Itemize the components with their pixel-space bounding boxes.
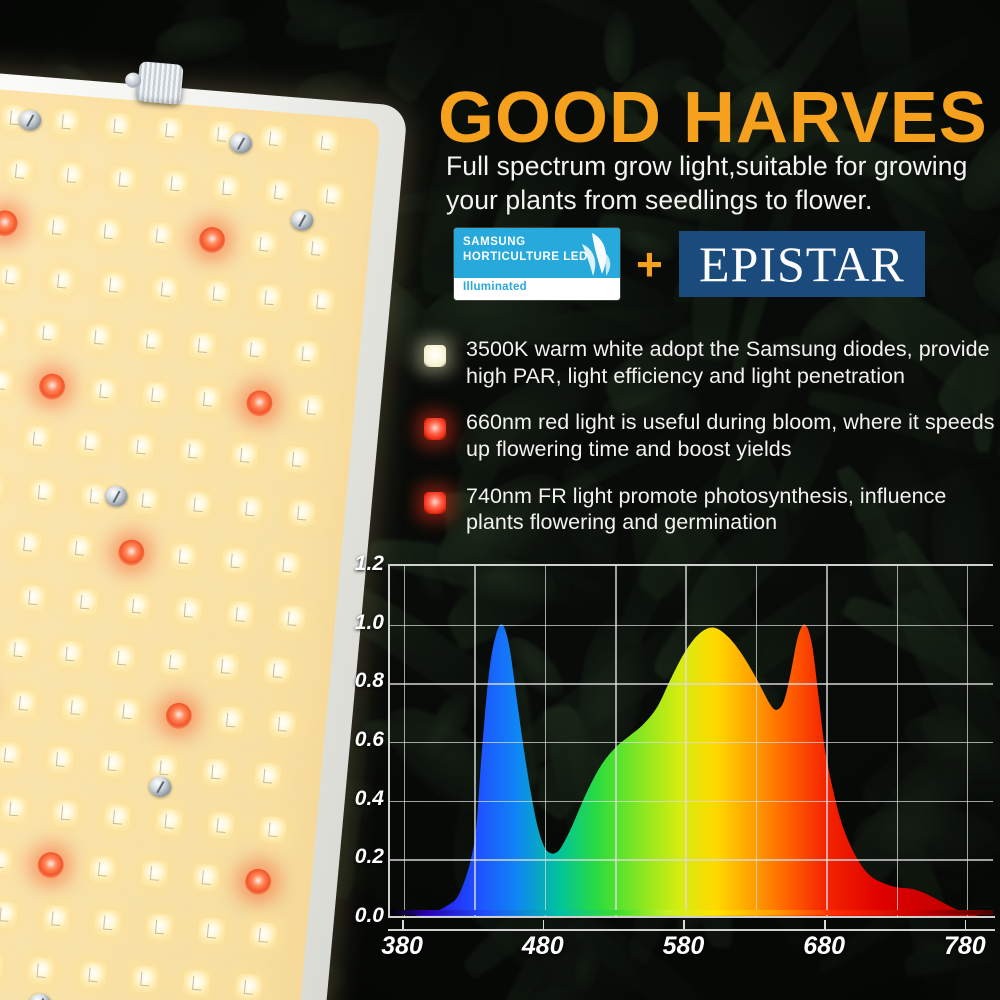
- white-led: [94, 909, 122, 937]
- gridline-vertical: [685, 566, 686, 916]
- red-led-marker-icon: [424, 492, 446, 514]
- white-led: [131, 965, 159, 993]
- white-led: [249, 921, 277, 949]
- x-axis-tickmark: [543, 920, 545, 929]
- y-axis-tick: 0.4: [355, 787, 384, 811]
- feature-text: 3500K warm white adopt the Samsung diode…: [466, 336, 1000, 389]
- white-led: [27, 957, 55, 985]
- white-led: [0, 263, 24, 291]
- white-led: [179, 437, 207, 465]
- red-led: [37, 851, 65, 879]
- white-led: [132, 487, 160, 515]
- white-led: [307, 288, 335, 316]
- white-led: [297, 394, 325, 422]
- white-led: [104, 112, 132, 140]
- red-led: [165, 702, 193, 730]
- feature-list: 3500K warm white adopt the Samsung diode…: [418, 336, 1000, 556]
- white-led: [71, 588, 99, 616]
- white-led: [155, 807, 183, 835]
- gridline-horizontal: [390, 859, 993, 860]
- white-led: [0, 952, 3, 980]
- white-led: [282, 446, 310, 474]
- white-led: [75, 429, 103, 457]
- gridline-vertical: [615, 566, 616, 916]
- red-led: [245, 389, 273, 417]
- panel-screw: [105, 485, 129, 507]
- white-led: [19, 584, 47, 612]
- spectrum-chart: 1.21.00.80.60.40.20.0: [340, 552, 1000, 1000]
- gridline-vertical: [474, 566, 475, 916]
- plus-symbol: +: [636, 241, 663, 287]
- x-axis-line: [388, 916, 995, 918]
- feature-text: 660nm red light is useful during bloom, …: [466, 409, 1000, 462]
- epistar-logo-label: EPISTAR: [699, 239, 905, 289]
- gridline-horizontal: [390, 801, 993, 802]
- white-led: [156, 116, 184, 144]
- y-axis-tick: 1.2: [355, 552, 384, 576]
- gridline-vertical: [404, 566, 405, 916]
- white-led: [234, 973, 262, 1000]
- panel-screw: [290, 209, 314, 231]
- white-led: [113, 698, 141, 726]
- white-led: [216, 706, 244, 734]
- white-led: [240, 336, 268, 364]
- white-led: [0, 474, 5, 502]
- white-led: [0, 741, 23, 769]
- x-axis-tick: 480: [522, 932, 564, 961]
- red-led: [38, 373, 66, 401]
- x-axis-tickmark: [402, 920, 404, 929]
- white-led: [109, 166, 137, 194]
- panel-mount-knob: [136, 61, 183, 105]
- white-led: [259, 125, 287, 153]
- y-axis-tick: 0.6: [355, 728, 384, 752]
- white-led: [263, 657, 291, 685]
- samsung-horticulture-led-logo: SAMSUNG HORTICULTURE LED Illuminated: [454, 228, 620, 300]
- white-led: [236, 495, 264, 523]
- white-led: [174, 596, 202, 624]
- white-led: [213, 174, 241, 202]
- list-item: 3500K warm white adopt the Samsung diode…: [418, 336, 1000, 389]
- white-led: [42, 905, 70, 933]
- y-axis-tick: 0.8: [355, 669, 384, 693]
- white-led: [80, 482, 108, 510]
- white-led: [145, 913, 173, 941]
- list-item: 660nm red light is useful during bloom, …: [418, 409, 1000, 462]
- white-led: [33, 319, 61, 347]
- white-led: [108, 644, 136, 672]
- white-led: [207, 812, 235, 840]
- white-led: [94, 218, 122, 246]
- white-led: [259, 816, 287, 844]
- gridline-vertical: [967, 566, 968, 916]
- white-led: [65, 534, 93, 562]
- panel-screw: [229, 132, 253, 154]
- white-led: [161, 170, 189, 198]
- white-led: [122, 592, 150, 620]
- gridline-horizontal: [390, 625, 993, 626]
- white-led: [193, 385, 221, 413]
- white-led: [23, 425, 51, 453]
- white-led: [265, 178, 293, 206]
- white-led: [4, 636, 32, 664]
- white-led: [85, 323, 113, 351]
- red-led: [0, 209, 19, 237]
- white-led: [255, 284, 283, 312]
- y-axis-tick: 1.0: [355, 611, 384, 635]
- x-axis-tick: 780: [944, 932, 986, 961]
- x-axis-tickmark: [965, 920, 967, 929]
- white-led: [51, 799, 79, 827]
- white-led: [46, 746, 74, 774]
- x-axis-tick: 580: [663, 932, 705, 961]
- red-led-marker-icon: [424, 418, 446, 440]
- white-led: [90, 377, 118, 405]
- brand-logos: SAMSUNG HORTICULTURE LED Illuminated + E…: [454, 228, 925, 300]
- white-led: [202, 758, 230, 786]
- panel-screw: [148, 776, 172, 798]
- white-led: [88, 855, 116, 883]
- x-axis-tick: 680: [803, 932, 845, 961]
- white-led: [197, 917, 225, 945]
- white-led: [61, 694, 89, 722]
- white-led: [142, 381, 170, 409]
- white-led-marker-icon: [424, 345, 446, 367]
- white-led: [250, 230, 278, 258]
- white-led: [99, 271, 127, 299]
- white-led: [52, 108, 80, 136]
- page-title: GOOD HARVES: [438, 82, 988, 154]
- red-led: [244, 868, 272, 896]
- white-led: [0, 847, 13, 875]
- x-axis-labels: 380480580680780: [388, 920, 995, 964]
- white-led: [278, 605, 306, 633]
- y-axis-labels: 1.21.00.80.60.40.20.0: [340, 552, 384, 920]
- white-led: [0, 795, 28, 823]
- white-led: [14, 530, 42, 558]
- white-led: [192, 864, 220, 892]
- list-item: 740nm FR light promote photosynthesis, i…: [418, 483, 1000, 536]
- gridline-horizontal: [390, 742, 993, 743]
- white-led: [188, 332, 216, 360]
- white-led: [254, 762, 282, 790]
- epistar-logo: EPISTAR: [679, 231, 925, 297]
- white-led: [302, 234, 330, 262]
- white-led: [5, 157, 33, 185]
- red-led: [198, 226, 226, 254]
- visible-spectrum-bar: [390, 910, 993, 915]
- gridline-vertical: [756, 566, 757, 916]
- white-led: [57, 162, 85, 190]
- gridline-vertical: [545, 566, 546, 916]
- white-led: [0, 369, 14, 397]
- white-led: [136, 327, 164, 355]
- white-led: [159, 648, 187, 676]
- white-led: [211, 652, 239, 680]
- white-led: [103, 803, 131, 831]
- leaf-icon: [562, 230, 614, 278]
- white-led: [98, 750, 126, 778]
- white-led: [48, 267, 76, 295]
- subtitle: Full spectrum grow light,suitable for gr…: [446, 150, 1000, 217]
- white-led: [203, 280, 231, 308]
- y-axis-tick: 0.2: [355, 845, 384, 869]
- x-axis-tickmark: [824, 920, 826, 929]
- white-led: [311, 129, 339, 157]
- white-led: [151, 275, 179, 303]
- gridline-vertical: [897, 566, 898, 916]
- white-led: [9, 689, 37, 717]
- plot-area: [388, 564, 993, 916]
- white-led: [169, 543, 197, 571]
- white-led: [42, 214, 70, 242]
- white-led: [184, 491, 212, 519]
- x-axis-tickmark: [683, 920, 685, 929]
- white-led: [0, 901, 18, 929]
- white-led: [221, 547, 249, 575]
- white-led: [182, 969, 210, 997]
- white-led: [231, 441, 259, 469]
- y-axis-tick: 0.0: [355, 904, 384, 928]
- gridline-horizontal: [390, 683, 993, 684]
- white-led: [28, 478, 56, 506]
- white-led: [56, 640, 84, 668]
- samsung-logo-footer: Illuminated: [454, 278, 620, 300]
- white-led: [273, 551, 301, 579]
- white-led: [146, 222, 174, 250]
- white-led: [0, 315, 9, 343]
- red-led: [117, 539, 145, 567]
- white-led: [292, 340, 320, 368]
- white-led: [316, 182, 344, 210]
- white-led: [127, 433, 155, 461]
- gridline-vertical: [826, 566, 827, 916]
- white-led: [226, 600, 254, 628]
- white-led: [140, 859, 168, 887]
- x-axis-tick: 380: [381, 932, 423, 961]
- white-led: [288, 499, 316, 527]
- white-led: [268, 710, 296, 738]
- feature-text: 740nm FR light promote photosynthesis, i…: [466, 483, 1000, 536]
- white-led: [79, 961, 107, 989]
- panel-screw: [28, 993, 52, 1000]
